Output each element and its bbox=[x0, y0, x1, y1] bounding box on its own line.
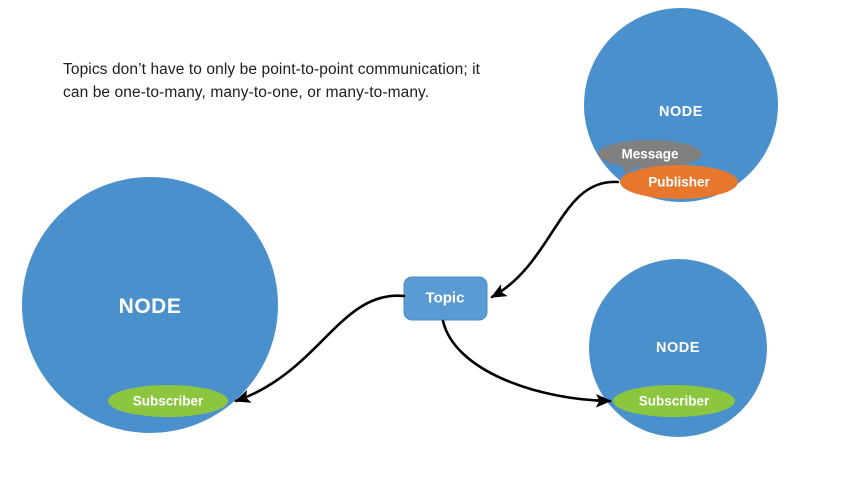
arrow-publisher-to-topic[interactable] bbox=[492, 182, 618, 297]
slide-canvas: Topics don’t have to only be point-to-po… bbox=[0, 0, 854, 480]
node-label-top-right: NODE bbox=[659, 104, 703, 120]
subscriber-label-left: Subscriber bbox=[133, 394, 204, 409]
caption-text: Topics don’t have to only be point-to-po… bbox=[63, 58, 483, 105]
topic-label: Topic bbox=[426, 290, 465, 307]
subscriber-label-bottom-right: Subscriber bbox=[639, 394, 710, 409]
message-label: Message bbox=[621, 147, 678, 162]
node-label-left: NODE bbox=[119, 295, 182, 319]
node-label-bottom-right: NODE bbox=[656, 340, 700, 356]
publisher-label: Publisher bbox=[648, 175, 710, 190]
arrow-topic-to-subscriber-bottom-right[interactable] bbox=[443, 321, 610, 401]
